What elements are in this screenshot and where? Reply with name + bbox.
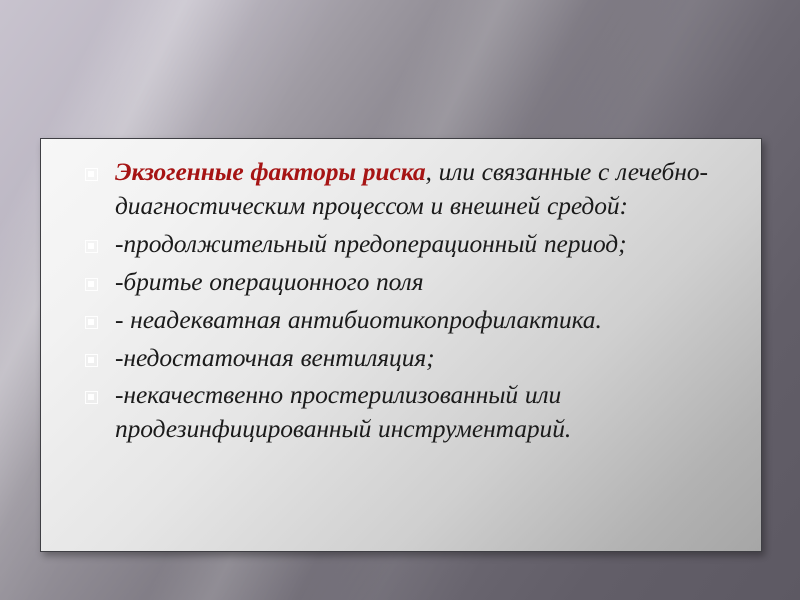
square-bullet-icon bbox=[85, 278, 98, 291]
list-item-text: -недостаточная вентиляция; bbox=[115, 343, 435, 372]
list-item-text: -некачественно простерилизованный или пр… bbox=[115, 380, 571, 443]
list-item[interactable]: - неадекватная антибиотикопрофилактика. bbox=[63, 303, 739, 337]
list-item-text: -продолжительный предоперационный период… bbox=[115, 229, 627, 258]
square-bullet-icon bbox=[85, 240, 98, 253]
risk-factors-heading: Экзогенные факторы риска bbox=[115, 157, 426, 186]
list-item-text: -бритье операционного поля bbox=[115, 267, 423, 296]
content-placeholder-box[interactable]: Экзогенные факторы риска, или связанные … bbox=[40, 138, 762, 552]
list-item[interactable]: -некачественно простерилизованный или пр… bbox=[63, 378, 739, 446]
list-item[interactable]: -бритье операционного поля bbox=[63, 265, 739, 299]
list-item[interactable]: Экзогенные факторы риска, или связанные … bbox=[63, 155, 739, 223]
square-bullet-icon bbox=[85, 316, 98, 329]
square-bullet-icon bbox=[85, 391, 98, 404]
slide-canvas: Экзогенные факторы риска, или связанные … bbox=[0, 0, 800, 600]
list-item-text: - неадекватная антибиотикопрофилактика. bbox=[115, 305, 602, 334]
list-item[interactable]: -продолжительный предоперационный период… bbox=[63, 227, 739, 261]
square-bullet-icon bbox=[85, 168, 98, 181]
bullet-list: Экзогенные факторы риска, или связанные … bbox=[63, 155, 739, 446]
square-bullet-icon bbox=[85, 354, 98, 367]
list-item[interactable]: -недостаточная вентиляция; bbox=[63, 341, 739, 375]
